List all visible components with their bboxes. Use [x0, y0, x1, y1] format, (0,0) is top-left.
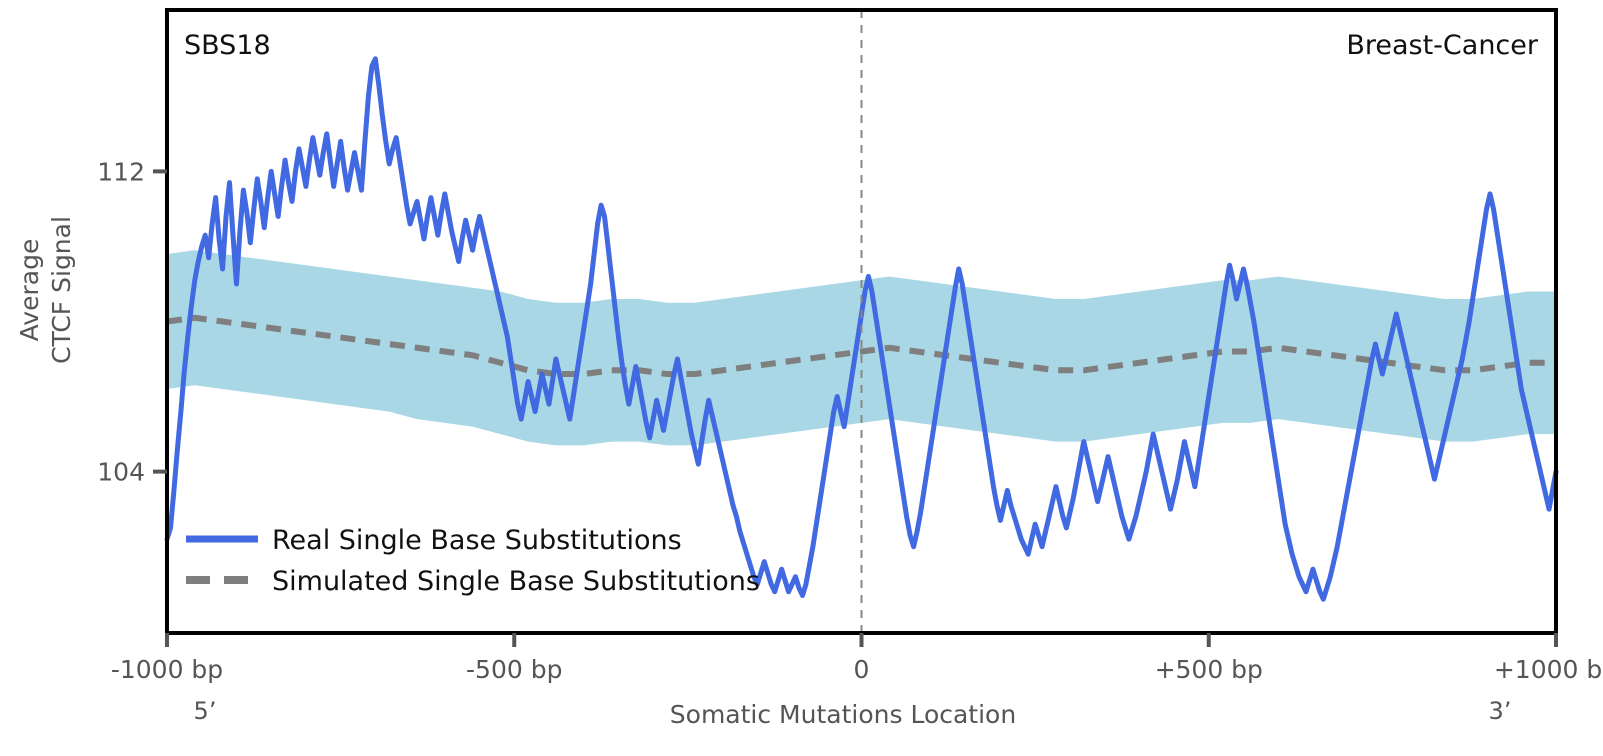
strand-3prime-label: 3’ [1489, 697, 1512, 725]
x-tick-label: -1000 bp [111, 655, 223, 684]
y-tick-label: 104 [97, 458, 145, 487]
chart-canvas: 104112 -1000 bp-500 bp0+500 bp+1000 bp S… [0, 0, 1603, 756]
ctcf-signal-figure: 104112 -1000 bp-500 bp0+500 bp+1000 bp S… [0, 0, 1603, 756]
strand-5prime-label: 5’ [194, 697, 217, 725]
x-axis-ticks: -1000 bp-500 bp0+500 bp+1000 bp [111, 633, 1603, 684]
y-tick-label: 112 [97, 157, 145, 186]
y-axis-ticks: 104112 [97, 157, 167, 486]
x-tick-label: +500 bp [1155, 655, 1263, 684]
x-tick-label: +1000 bp [1494, 655, 1603, 684]
x-axis-title: Somatic Mutations Location [670, 700, 1016, 729]
legend-label-real: Real Single Base Substitutions [272, 525, 682, 556]
cancer-type-label: Breast-Cancer [1346, 30, 1539, 61]
y-axis-title-line2: CTCF Signal [47, 216, 76, 364]
y-axis-title: Average CTCF Signal [15, 216, 76, 364]
x-tick-label: -500 bp [466, 655, 562, 684]
signature-label: SBS18 [184, 30, 271, 61]
y-axis-title-line1: Average [15, 239, 44, 342]
legend-label-simulated: Simulated Single Base Substitutions [272, 566, 760, 597]
x-tick-label: 0 [854, 655, 870, 684]
